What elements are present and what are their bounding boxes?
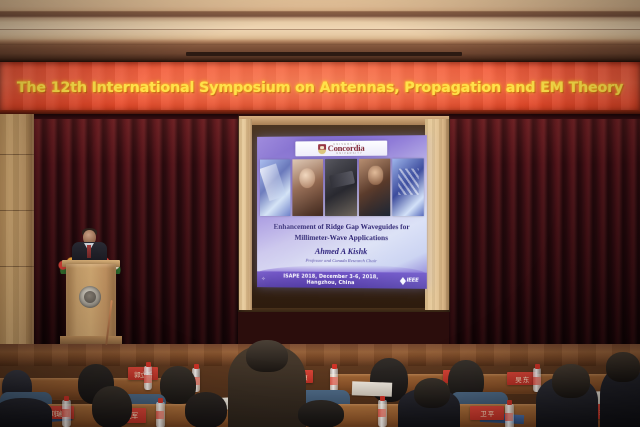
ceiling-vent: [186, 52, 296, 56]
banner-title-text: The 12th International Symposium on Ante…: [0, 62, 640, 114]
attendee-head: [92, 386, 132, 427]
name-card: 卫 平: [470, 406, 504, 420]
curtain-rail-left: [34, 114, 238, 119]
water-bottle: [505, 404, 514, 427]
water-bottle: [156, 402, 165, 427]
water-bottle: [144, 366, 152, 390]
attendee-head: [552, 364, 590, 398]
podium-crest-emblem: [79, 286, 101, 308]
attendee-head: [606, 352, 640, 382]
stage-curtain-left: [34, 114, 238, 344]
ceiling-seam: [0, 44, 640, 45]
speaker-tie: [87, 245, 91, 258]
attendee-head: [185, 392, 227, 427]
attendee-head: [298, 400, 344, 427]
alcove-header-trim: [239, 116, 449, 125]
attendee-head: [414, 378, 450, 408]
event-banner: The 12th International Symposium on Ante…: [0, 62, 640, 114]
slide-projection-sheen: [257, 135, 427, 289]
conference-photo: The 12th International Symposium on Ante…: [0, 0, 640, 427]
wall-wood-panel-left: [0, 114, 34, 346]
attendee-head: [246, 340, 288, 372]
water-bottle: [378, 400, 387, 427]
water-bottle: [330, 368, 338, 392]
projected-slide: Concordia UNIVERSITY UNIVERSITY Enhancem…: [257, 135, 427, 289]
attendee-foreground: [0, 398, 52, 427]
water-bottle: [62, 400, 71, 427]
name-card: 郭立新: [128, 367, 158, 380]
alcove-column-left: [239, 119, 252, 310]
document-papers: [352, 381, 392, 396]
ceiling-vent: [292, 52, 462, 56]
alcove-column-right: [425, 119, 449, 310]
stage-curtain-right: [449, 114, 640, 344]
ceiling-seam: [0, 29, 640, 30]
curtain-rail-right: [449, 114, 640, 119]
